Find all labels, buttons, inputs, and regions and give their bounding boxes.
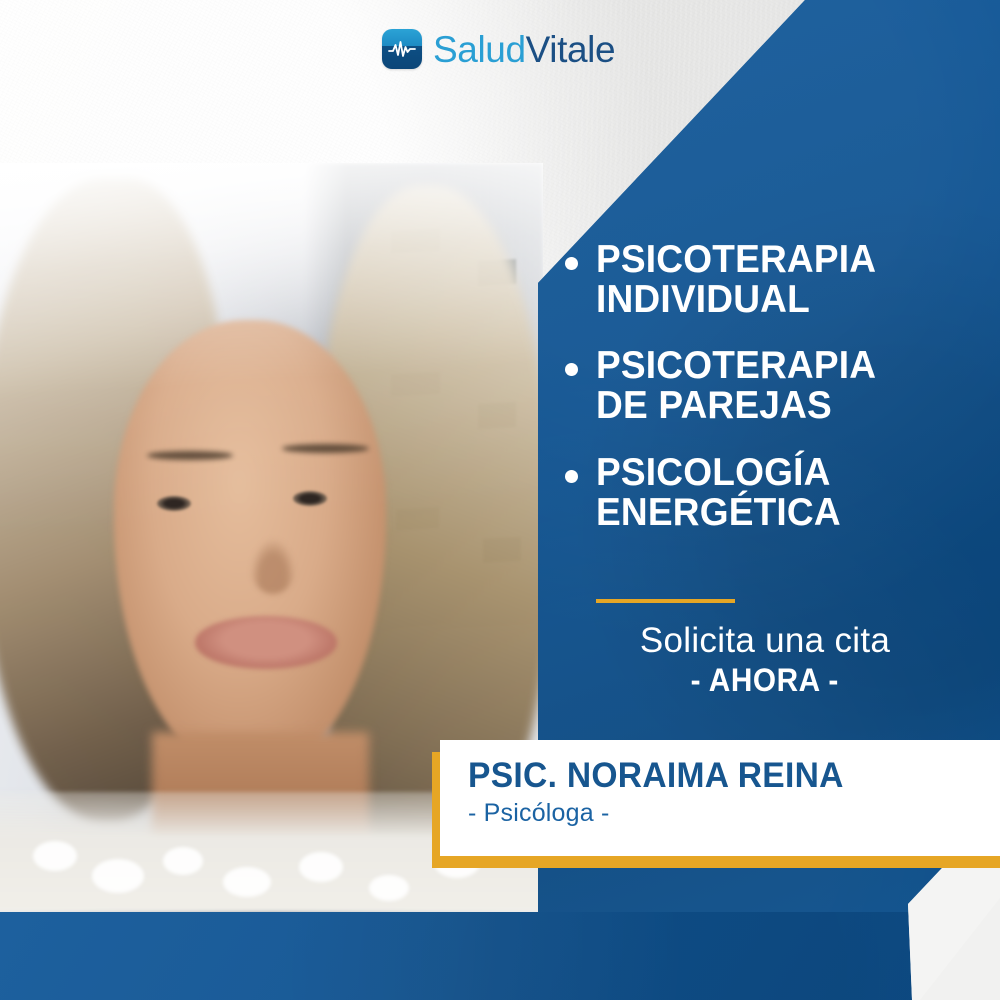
service-label: PSICOTERAPIA INDIVIDUAL xyxy=(596,240,876,320)
heartbeat-ecg-icon xyxy=(382,29,422,69)
gold-divider xyxy=(596,599,735,603)
list-item: PSICOLOGÍA ENERGÉTICA xyxy=(565,453,965,533)
brand-wordmark-salud: Salud xyxy=(433,29,526,70)
blue-bottom-bar xyxy=(0,912,1000,1000)
practitioner-title: - Psicóloga - xyxy=(468,798,1000,828)
name-card: PSIC. NORAIMA REINA - Psicóloga - xyxy=(440,740,1000,856)
practitioner-name: PSIC. NORAIMA REINA xyxy=(468,758,979,795)
cta-primary-text: Solicita una cita xyxy=(565,620,965,661)
promotional-poster: SaludVitale PSICOTERAPIA INDIVIDUAL PSIC… xyxy=(0,0,1000,1000)
services-list: PSICOTERAPIA INDIVIDUAL PSICOTERAPIA DE … xyxy=(565,240,965,559)
brand-logo[interactable]: SaludVitale xyxy=(382,29,615,69)
brand-wordmark-vitale: Vitale xyxy=(526,29,616,70)
list-item: PSICOTERAPIA INDIVIDUAL xyxy=(565,240,965,320)
bullet-dot-icon xyxy=(565,257,578,270)
call-to-action: Solicita una cita - AHORA - xyxy=(565,620,965,698)
bullet-dot-icon xyxy=(565,470,578,483)
service-label: PSICOLOGÍA ENERGÉTICA xyxy=(596,453,841,533)
brand-wordmark: SaludVitale xyxy=(433,31,615,68)
chevron-decoration-icon xyxy=(890,868,1000,1000)
bullet-dot-icon xyxy=(565,363,578,376)
list-item: PSICOTERAPIA DE PAREJAS xyxy=(565,346,965,426)
cta-emphasis-text: - AHORA - xyxy=(691,663,839,698)
service-label: PSICOTERAPIA DE PAREJAS xyxy=(596,346,876,426)
